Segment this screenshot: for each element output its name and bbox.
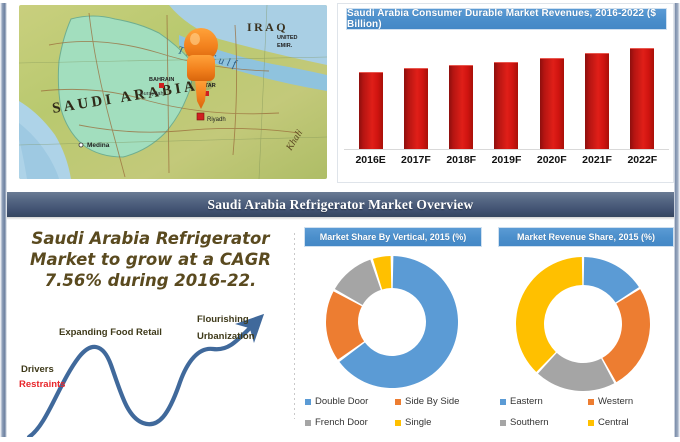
legend-label: Western [598, 396, 633, 407]
donut-slice-southern [538, 353, 614, 391]
driver-flourishing-label: Flourishing [197, 314, 249, 325]
revenue-chart-title: Market Revenue Share, 2015 (%) [498, 227, 674, 247]
bar-chart-plot [348, 36, 665, 149]
bar-series [348, 36, 665, 149]
swatch-icon [500, 420, 506, 426]
restraints-label: Restraints [19, 379, 65, 390]
saudi-arabia-map: SAUDI ARABIA IRAQ The Gulf BAHRAIN QATAR… [19, 5, 327, 179]
x-label: 2020F [532, 154, 572, 166]
swatch-icon [588, 420, 594, 426]
bar-chart-x-labels: 2016E 2017F 2018F 2019F 2020F 2021F 2022… [348, 154, 665, 174]
drivers-restraints-diagram: Drivers Restraints Expanding Food Retail… [7, 309, 292, 437]
top-section: SAUDI ARABIA IRAQ The Gulf BAHRAIN QATAR… [7, 3, 674, 186]
bar-chart-card: Saudi Arabia Consumer Durable Market Rev… [337, 3, 674, 183]
section-separator [7, 186, 674, 190]
legend-label: Double Door [315, 396, 368, 407]
svg-text:BAHRAIN: BAHRAIN [149, 77, 174, 83]
bottom-section: Saudi Arabia Refrigerator Market to grow… [7, 221, 674, 437]
swatch-icon [305, 420, 311, 426]
drivers-label: Drivers [21, 364, 54, 375]
legend-label: Side By Side [405, 396, 459, 407]
svg-text:Medina: Medina [87, 142, 110, 149]
driver-urbanization-label: Urbanization [197, 331, 255, 342]
svg-text:EMIR.: EMIR. [277, 43, 293, 49]
legend-label: Southern [510, 417, 549, 428]
swatch-icon [588, 399, 594, 405]
legend-label: French Door [315, 417, 368, 428]
legend-label: Eastern [510, 396, 543, 407]
svg-text:Riyadh: Riyadh [207, 117, 226, 123]
headline-text: Saudi Arabia Refrigerator Market to grow… [13, 229, 288, 291]
headline-panel: Saudi Arabia Refrigerator Market to grow… [7, 221, 292, 437]
donut-slice-central [516, 257, 582, 372]
market-revenue-share-chart: Market Revenue Share, 2015 (%) Eastern W… [494, 221, 679, 437]
vertical-chart-legend: Double Door Side By Side French Door Sin… [305, 391, 485, 433]
legend-item-eastern: Eastern [500, 391, 588, 412]
bar-2018f [449, 65, 473, 149]
legend-item-central: Central [588, 412, 676, 433]
svg-text:IRAQ: IRAQ [247, 20, 288, 34]
swatch-icon [395, 420, 401, 426]
swatch-icon [395, 399, 401, 405]
svg-text:UNITED: UNITED [277, 35, 298, 41]
legend-item-western: Western [588, 391, 676, 412]
market-share-by-vertical-chart: Market Share By Vertical, 2015 (%) Doubl… [299, 221, 487, 437]
frame-left-edge [0, 0, 7, 437]
bar-2017f [404, 68, 428, 149]
infographic-page: SAUDI ARABIA IRAQ The Gulf BAHRAIN QATAR… [0, 0, 680, 437]
x-label: 2021F [577, 154, 617, 166]
svg-text:Buraydah: Buraydah [140, 91, 164, 97]
x-label: 2022F [622, 154, 662, 166]
swatch-icon [500, 399, 506, 405]
page-title: Saudi Arabia Refrigerator Market Overvie… [7, 192, 674, 217]
revenue-donut [510, 251, 656, 402]
legend-item-side-by-side: Side By Side [395, 391, 485, 412]
legend-label: Single [405, 417, 431, 428]
bar-2020f [540, 58, 564, 149]
x-label: 2016E [351, 154, 391, 166]
bar-2019f [494, 62, 518, 149]
legend-item-southern: Southern [500, 412, 588, 433]
x-label: 2018F [441, 154, 481, 166]
x-label: 2017F [396, 154, 436, 166]
driver-expanding-food-retail-label: Expanding Food Retail [59, 327, 162, 338]
x-label: 2019F [486, 154, 526, 166]
revenue-chart-legend: Eastern Western Southern Central [500, 391, 676, 433]
donut-slice-western [602, 289, 650, 382]
legend-item-double-door: Double Door [305, 391, 395, 412]
legend-label: Central [598, 417, 629, 428]
vertical-donut [321, 251, 463, 398]
legend-item-french-door: French Door [305, 412, 395, 433]
bar-2016e [359, 72, 383, 149]
bar-chart-title: Saudi Arabia Consumer Durable Market Rev… [346, 8, 667, 30]
swatch-icon [305, 399, 311, 405]
bar-chart-axis-line [344, 149, 669, 150]
vertical-chart-title: Market Share By Vertical, 2015 (%) [304, 227, 482, 247]
bar-2021f [585, 53, 609, 150]
banner-shadow [7, 217, 674, 220]
bar-2022f [630, 48, 654, 149]
legend-item-single: Single [395, 412, 485, 433]
vertical-divider [294, 233, 295, 419]
